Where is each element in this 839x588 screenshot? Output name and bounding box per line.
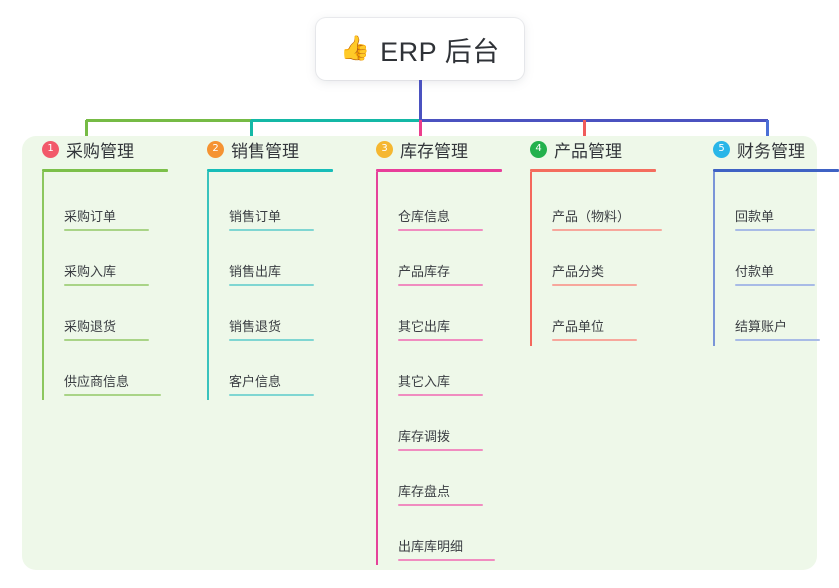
leaf-item[interactable]: 其它入库 [398, 342, 483, 396]
leaf-label: 产品分类 [552, 261, 604, 280]
column-title-2: 销售管理 [231, 137, 299, 162]
leaf-label: 仓库信息 [398, 206, 450, 225]
column-spine-2 [207, 172, 209, 400]
leaf-item[interactable]: 出库库明细 [398, 507, 495, 561]
leaf-item[interactable]: 客户信息 [229, 342, 314, 396]
leaf-rule [735, 229, 815, 231]
thumbs-up-icon: 👍 [340, 37, 370, 61]
leaf-label: 销售订单 [229, 206, 281, 225]
column-title-3: 库存管理 [400, 137, 468, 162]
leaf-label: 回款单 [735, 206, 774, 225]
leaf-label: 其它出库 [398, 316, 450, 335]
mindmap-canvas: 👍 ERP 后台 1 采购管理 采购订单 [0, 0, 839, 588]
leaf-label: 销售退货 [229, 316, 281, 335]
leaf-rule [64, 284, 149, 286]
leaf-item[interactable]: 采购入库 [64, 232, 149, 286]
leaf-rule [735, 284, 815, 286]
column-header-3[interactable]: 3 库存管理 [376, 136, 468, 162]
leaf-rule [64, 229, 149, 231]
leaf-item[interactable]: 供应商信息 [64, 342, 161, 396]
column-header-2[interactable]: 2 销售管理 [207, 136, 299, 162]
leaf-label: 产品单位 [552, 316, 604, 335]
column-spine-4 [530, 172, 532, 346]
column-spine-5 [713, 172, 715, 346]
leaf-label: 销售出库 [229, 261, 281, 280]
leaf-rule [398, 559, 495, 561]
column-rule-1 [42, 169, 168, 172]
leaf-item[interactable]: 采购订单 [64, 177, 149, 231]
leaf-label: 采购入库 [64, 261, 116, 280]
leaf-rule [398, 284, 483, 286]
leaf-label: 采购退货 [64, 316, 116, 335]
leaf-label: 采购订单 [64, 206, 116, 225]
column-spine-1 [42, 172, 44, 400]
leaf-rule [229, 284, 314, 286]
column-title-5: 财务管理 [737, 137, 805, 162]
root-node[interactable]: 👍 ERP 后台 [316, 18, 524, 80]
leaf-item[interactable]: 结算账户 [735, 287, 820, 341]
leaf-label: 产品（物料） [552, 206, 630, 225]
leaf-item[interactable]: 库存盘点 [398, 452, 483, 506]
leaf-rule [398, 449, 483, 451]
column-spine-3 [376, 172, 378, 565]
column-badge-4: 4 [530, 141, 547, 158]
leaf-label: 供应商信息 [64, 371, 129, 390]
column-badge-1: 1 [42, 141, 59, 158]
leaf-item[interactable]: 产品（物料） [552, 177, 662, 231]
leaf-rule [398, 394, 483, 396]
column-badge-3: 3 [376, 141, 393, 158]
leaf-rule [64, 339, 149, 341]
leaf-item[interactable]: 销售退货 [229, 287, 314, 341]
column-badge-5: 5 [713, 141, 730, 158]
column-rule-4 [530, 169, 656, 172]
column-title-1: 采购管理 [66, 137, 134, 162]
column-rule-3 [376, 169, 502, 172]
column-header-5[interactable]: 5 财务管理 [713, 136, 805, 162]
leaf-item[interactable]: 其它出库 [398, 287, 483, 341]
leaf-item[interactable]: 仓库信息 [398, 177, 483, 231]
leaf-label: 产品库存 [398, 261, 450, 280]
column-rule-5 [713, 169, 839, 172]
leaf-rule [229, 394, 314, 396]
leaf-rule [64, 394, 161, 396]
leaf-item[interactable]: 付款单 [735, 232, 815, 286]
leaf-label: 库存调拨 [398, 426, 450, 445]
leaf-rule [398, 504, 483, 506]
leaf-label: 付款单 [735, 261, 774, 280]
leaf-item[interactable]: 产品库存 [398, 232, 483, 286]
column-rule-2 [207, 169, 333, 172]
leaf-item[interactable]: 库存调拨 [398, 397, 483, 451]
leaf-rule [735, 339, 820, 341]
leaf-rule [229, 229, 314, 231]
leaf-rule [552, 284, 637, 286]
leaf-rule [229, 339, 314, 341]
leaf-item[interactable]: 产品分类 [552, 232, 637, 286]
leaf-label: 其它入库 [398, 371, 450, 390]
leaf-label: 结算账户 [735, 316, 787, 335]
leaf-label: 出库库明细 [398, 536, 463, 555]
column-title-4: 产品管理 [554, 137, 622, 162]
leaf-item[interactable]: 采购退货 [64, 287, 149, 341]
content-panel: 1 采购管理 采购订单 采购入库 采购退货 供应商信息 [22, 136, 817, 570]
leaf-rule [552, 229, 662, 231]
leaf-item[interactable]: 销售出库 [229, 232, 314, 286]
column-header-1[interactable]: 1 采购管理 [42, 136, 134, 162]
leaf-label: 客户信息 [229, 371, 281, 390]
leaf-item[interactable]: 销售订单 [229, 177, 314, 231]
leaf-rule [552, 339, 637, 341]
leaf-rule [398, 229, 483, 231]
leaf-item[interactable]: 回款单 [735, 177, 815, 231]
leaf-rule [398, 339, 483, 341]
root-title: ERP 后台 [380, 30, 500, 69]
leaf-item[interactable]: 产品单位 [552, 287, 637, 341]
leaf-label: 库存盘点 [398, 481, 450, 500]
column-badge-2: 2 [207, 141, 224, 158]
column-header-4[interactable]: 4 产品管理 [530, 136, 622, 162]
